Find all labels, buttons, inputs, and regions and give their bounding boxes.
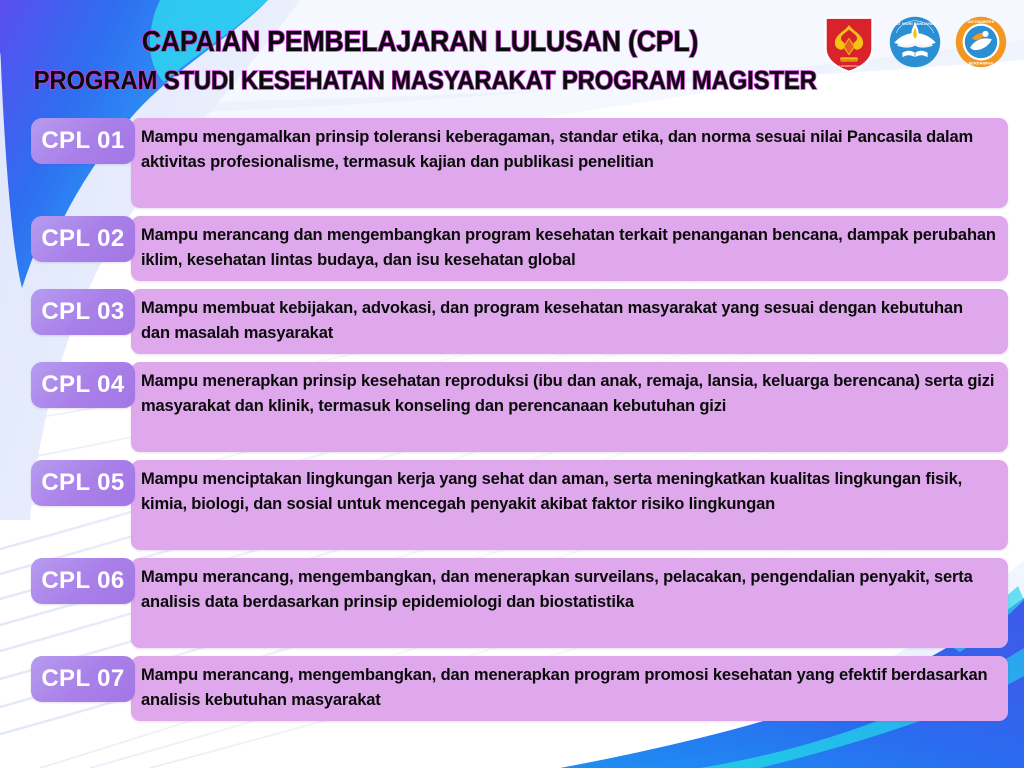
universitas-diponegoro-logo: DIPONEGORO UNIVERSITAS (822, 14, 876, 72)
cpl-row: CPL 04 Mampu menerapkan prinsip kesehata… (0, 362, 1024, 452)
cpl-description: Mampu merancang, mengembangkan, dan mene… (131, 656, 1008, 721)
title-line-primary: CAPAIAN PEMBELAJARAN LULUSAN (CPL) (34, 8, 807, 62)
title-line-secondary: PROGRAM STUDI KESEHATAN MASYARAKAT PROGR… (34, 62, 807, 98)
slide-canvas: CAPAIAN PEMBELAJARAN LULUSAN (CPL) PROGR… (0, 0, 1024, 768)
cpl-description: Mampu menciptakan lingkungan kerja yang … (131, 460, 1008, 550)
diktisaintek-berdampak-logo: DIKTISAINTEK BERDAMPAK (954, 14, 1008, 72)
cpl-row: CPL 02 Mampu merancang dan mengembangkan… (0, 216, 1024, 281)
cpl-code-badge: CPL 03 (31, 289, 135, 335)
cpl-row: CPL 05 Mampu menciptakan lingkungan kerj… (0, 460, 1024, 550)
cpl-description: Mampu merancang dan mengembangkan progra… (131, 216, 1008, 281)
page-title: CAPAIAN PEMBELAJARAN LULUSAN (CPL) PROGR… (0, 8, 840, 98)
cpl-code-badge: CPL 06 (31, 558, 135, 604)
svg-text:DIPONEGORO: DIPONEGORO (840, 58, 859, 62)
cpl-row: CPL 03 Mampu membuat kebijakan, advokasi… (0, 289, 1024, 354)
cpl-row: CPL 07 Mampu merancang, mengembangkan, d… (0, 656, 1024, 721)
cpl-code-badge: CPL 04 (31, 362, 135, 408)
tut-wuri-handayani-logo: TUT WURI HANDAYANI (888, 14, 942, 72)
cpl-list: CPL 01 Mampu mengamalkan prinsip toleran… (0, 118, 1024, 729)
logo-group: DIPONEGORO UNIVERSITAS TUT WURI HANDAYAN… (822, 14, 1008, 72)
svg-text:UNIVERSITAS: UNIVERSITAS (840, 64, 859, 68)
slide-header: CAPAIAN PEMBELAJARAN LULUSAN (CPL) PROGR… (0, 8, 1024, 104)
cpl-description: Mampu menerapkan prinsip kesehatan repro… (131, 362, 1008, 452)
cpl-description: Mampu mengamalkan prinsip toleransi kebe… (131, 118, 1008, 208)
cpl-code-badge: CPL 02 (31, 216, 135, 262)
cpl-description: Mampu membuat kebijakan, advokasi, dan p… (131, 289, 1008, 354)
cpl-code-badge: CPL 07 (31, 656, 135, 702)
cpl-row: CPL 06 Mampu merancang, mengembangkan, d… (0, 558, 1024, 648)
svg-text:DIKTISAINTEK: DIKTISAINTEK (967, 19, 994, 24)
cpl-description: Mampu merancang, mengembangkan, dan mene… (131, 558, 1008, 648)
cpl-row: CPL 01 Mampu mengamalkan prinsip toleran… (0, 118, 1024, 208)
svg-text:BERDAMPAK: BERDAMPAK (969, 61, 994, 66)
cpl-code-badge: CPL 01 (31, 118, 135, 164)
cpl-code-badge: CPL 05 (31, 460, 135, 506)
